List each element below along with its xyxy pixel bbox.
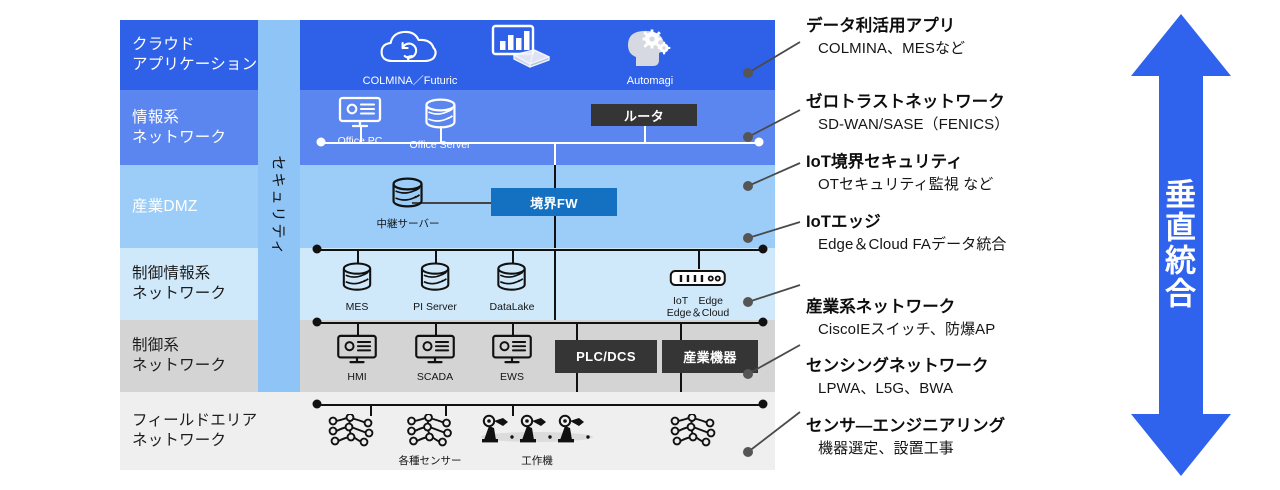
annotation-sub: OTセキュリティ監視 など — [806, 173, 993, 194]
cloud-sync-icon — [379, 28, 441, 68]
annotation-iot-boundary-security: IoT境界セキュリティ OTセキュリティ監視 など — [806, 148, 993, 194]
database-icon — [388, 177, 428, 211]
security-band: セキュリティ — [258, 20, 300, 392]
annotation-title: センシングネットワーク — [806, 352, 989, 376]
annotation-sub: 機器選定、設置工事 — [806, 437, 1005, 458]
annotation-title: ゼロトラストネットワーク — [806, 88, 1009, 112]
annotation-title: IoT境界セキュリティ — [806, 148, 993, 172]
node-label-industrial-equipment: 産業機器 — [683, 347, 737, 366]
node-label-scada: SCADA — [413, 371, 457, 383]
dashboard-analytics-icon — [486, 24, 554, 70]
ctrl-bus-dot-left — [313, 318, 322, 327]
database-icon — [493, 262, 531, 294]
node-office-pc[interactable]: Office PC — [337, 96, 383, 147]
node-label-mes: MES — [338, 301, 376, 313]
ctrlinfo-bus-dot-right — [759, 245, 768, 254]
dmz-row-content: 中継サーバー 境界FW — [120, 165, 775, 248]
monitor-icon — [335, 334, 379, 364]
diagram-canvas: クラウド アプリケーション COLMINA／Futuric — [0, 0, 1280, 490]
annotation-list: データ利活用アプリ COLMINA、MESなど ゼロトラストネットワーク SD-… — [806, 0, 1126, 490]
node-scada[interactable]: SCADA — [413, 334, 457, 383]
layer-row-ctrl: 制御系 ネットワーク HMI — [120, 320, 775, 392]
node-label-colmina: COLMINA／Futuric — [363, 75, 458, 88]
node-iot-edge[interactable]: IoT Edge Edge＆Cloud — [667, 268, 729, 320]
sensor-network-icon — [665, 414, 723, 448]
ctrlinfo-row-content: MES PI Server — [120, 248, 775, 320]
annotation-sub: COLMINA、MESなど — [806, 37, 965, 58]
node-label-datalake: DataLake — [490, 301, 535, 313]
field-bus-dot-right — [759, 400, 768, 409]
monitor-icon — [337, 96, 383, 128]
ctrlinfo-bus-line — [316, 249, 764, 251]
annotation-title: データ利活用アプリ — [806, 12, 965, 36]
node-dashboard-analytics[interactable] — [486, 24, 554, 77]
node-machine-tools[interactable]: 工作機 — [478, 414, 596, 467]
ctrl-row-content: HMI SCADA — [120, 320, 775, 392]
annotation-sensor-engineering: センサ―エンジニアリング 機器選定、設置工事 — [806, 412, 1005, 458]
node-label-automagi: Automagi — [623, 75, 677, 88]
vertical-integration-arrow: 垂 直 統 合 — [1125, 14, 1237, 476]
ctrlinfo-bus-dot-left — [313, 245, 322, 254]
node-boundary-fw[interactable]: 境界FW — [491, 188, 617, 216]
info-drop-down — [554, 142, 556, 166]
monitor-icon — [413, 334, 457, 364]
node-label-boundary-fw: 境界FW — [530, 193, 578, 212]
ctrlinfo-drop-pi — [435, 249, 437, 263]
layer-row-ctrlinfo: 制御情報系 ネットワーク M — [120, 248, 775, 320]
sensor-network-icon — [323, 414, 381, 448]
node-colmina-futuric[interactable]: COLMINA／Futuric — [363, 28, 458, 88]
node-hmi[interactable]: HMI — [335, 334, 379, 383]
annotation-data-utilization-app: データ利活用アプリ COLMINA、MESなど — [806, 12, 965, 58]
info-row-content: Office PC Office Server ルータ — [120, 90, 775, 165]
annotation-sensing-network: センシングネットワーク LPWA、L5G、BWA — [806, 352, 989, 398]
annotation-iot-edge: IoTエッジ Edge＆Cloud FAデータ統合 — [806, 208, 1007, 254]
node-label-sensor-2: 各種センサー — [399, 455, 462, 467]
ctrlinfo-drop-mes — [357, 249, 359, 263]
node-label-office-pc: Office PC — [337, 135, 383, 147]
field-bus-line — [316, 404, 764, 406]
node-label-ews: EWS — [490, 371, 534, 383]
ctrlinfo-drop-datalake — [512, 249, 514, 263]
annotation-sub: LPWA、L5G、BWA — [806, 377, 989, 398]
ctrlinfo-vertical-trunk — [554, 249, 556, 320]
layer-row-info: 情報系 ネットワーク Office PC — [120, 90, 775, 165]
layer-stack: クラウド アプリケーション COLMINA／Futuric — [120, 20, 775, 470]
node-router-chip[interactable]: ルータ — [591, 104, 697, 126]
layer-row-dmz: 産業DMZ 中継サーバー 境界FW — [120, 165, 775, 248]
node-label-machine-tools: 工作機 — [478, 455, 596, 467]
node-office-server[interactable]: Office Server — [409, 98, 470, 151]
node-automagi[interactable]: Automagi — [623, 26, 677, 88]
vertical-arrow-label: 垂 直 統 合 — [1165, 179, 1197, 310]
sensor-network-icon — [401, 414, 459, 448]
database-icon — [338, 262, 376, 294]
node-sensor-cluster-3[interactable] — [665, 414, 723, 455]
node-datalake[interactable]: DataLake — [490, 262, 535, 313]
annotation-title: IoTエッジ — [806, 208, 1007, 232]
node-label-iot-edge: IoT Edge Edge＆Cloud — [667, 295, 729, 320]
database-icon — [420, 98, 460, 132]
node-relay-server[interactable]: 中継サーバー — [377, 177, 440, 230]
monitor-icon — [490, 334, 534, 364]
node-label-router: ルータ — [624, 106, 664, 125]
ctrl-bus-dot-right — [759, 318, 768, 327]
field-bus-dot-left — [313, 400, 322, 409]
annotation-industrial-network: 産業系ネットワーク CiscoIEスイッチ、防爆AP — [806, 293, 995, 339]
annotation-sub: CiscoIEスイッチ、防爆AP — [806, 318, 995, 339]
layer-row-cloud: クラウド アプリケーション COLMINA／Futuric — [120, 20, 775, 90]
layer-row-field: フィールドエリア ネットワーク — [120, 392, 775, 470]
node-sensor-cluster-1[interactable] — [323, 414, 381, 455]
gateway-icon — [669, 268, 727, 288]
annotation-sub: SD-WAN/SASE（FENICS） — [806, 113, 1009, 134]
ctrlinfo-drop-iot-edge — [698, 249, 700, 269]
node-plc-dcs[interactable]: PLC/DCS — [555, 340, 657, 373]
node-label-pi-server: PI Server — [413, 301, 457, 313]
cloud-row-content: COLMINA／Futuric — [120, 20, 775, 90]
field-row-content: 各種センサー — [120, 392, 775, 470]
node-mes[interactable]: MES — [338, 262, 376, 313]
info-bus-dot-right — [755, 138, 764, 147]
info-bus-line — [320, 142, 760, 144]
node-ews[interactable]: EWS — [490, 334, 534, 383]
info-drop-router — [644, 126, 646, 142]
node-label-office-server: Office Server — [409, 139, 470, 151]
security-band-label: セキュリティ — [269, 155, 290, 256]
node-label-plc-dcs: PLC/DCS — [576, 349, 636, 364]
annotation-title: 産業系ネットワーク — [806, 293, 995, 317]
database-icon — [416, 262, 454, 294]
node-industrial-equipment[interactable]: 産業機器 — [662, 340, 758, 373]
ai-head-gears-icon — [623, 26, 677, 68]
robot-arm-icon — [478, 414, 596, 448]
node-sensor-cluster-2[interactable]: 各種センサー — [399, 414, 462, 467]
node-pi-server[interactable]: PI Server — [413, 262, 457, 313]
annotation-title: センサ―エンジニアリング — [806, 412, 1005, 436]
annotation-sub: Edge＆Cloud FAデータ統合 — [806, 233, 1007, 254]
node-label-relay-server: 中継サーバー — [377, 218, 440, 230]
info-bus-dot-left — [317, 138, 326, 147]
annotation-zero-trust-network: ゼロトラストネットワーク SD-WAN/SASE（FENICS） — [806, 88, 1009, 134]
ctrl-bus-line — [316, 322, 764, 324]
node-label-hmi: HMI — [335, 371, 379, 383]
